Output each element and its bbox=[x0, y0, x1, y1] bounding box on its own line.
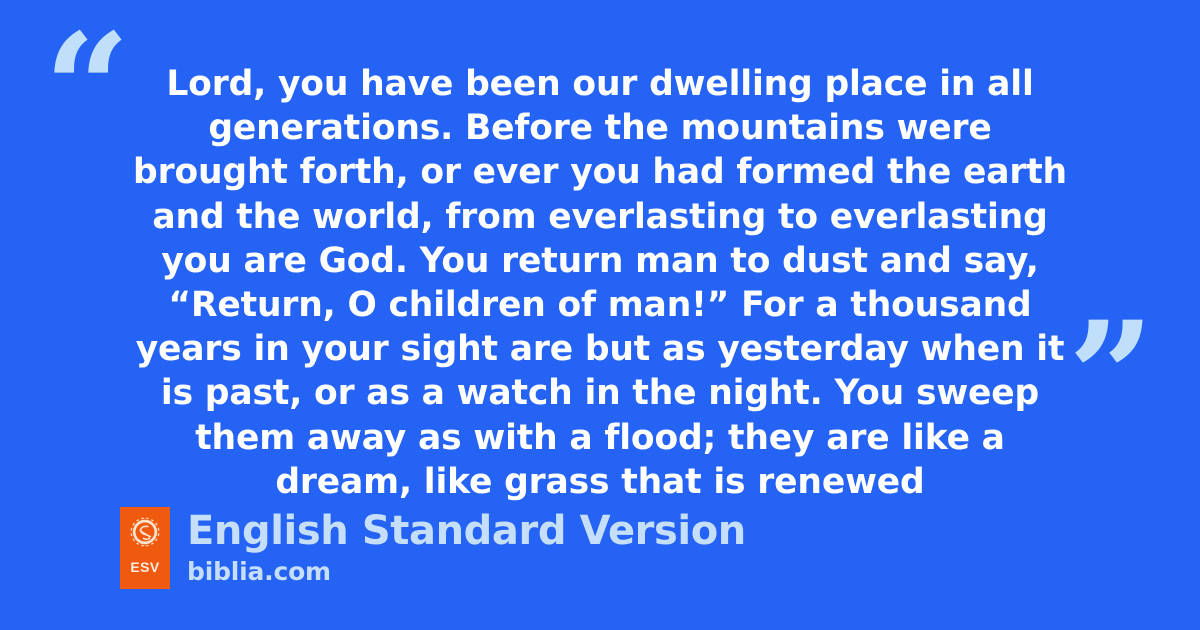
bible-version-name: English Standard Version bbox=[187, 507, 746, 555]
opening-quote-icon: “ bbox=[44, 14, 128, 164]
scripture-quote-text: Lord, you have been our dwelling place i… bbox=[130, 62, 1070, 504]
esv-abbreviation-label: ESV bbox=[130, 559, 159, 575]
closing-quote-icon: ” bbox=[1068, 302, 1152, 452]
attribution-text-block: English Standard Version biblia.com bbox=[187, 507, 746, 587]
quote-card: “ Lord, you have been our dwelling place… bbox=[0, 0, 1200, 630]
source-site-name: biblia.com bbox=[187, 557, 746, 587]
esv-seal-emblem-icon bbox=[129, 516, 161, 548]
attribution-footer: ESV English Standard Version biblia.com bbox=[120, 507, 746, 589]
esv-logo-badge: ESV bbox=[120, 507, 170, 589]
